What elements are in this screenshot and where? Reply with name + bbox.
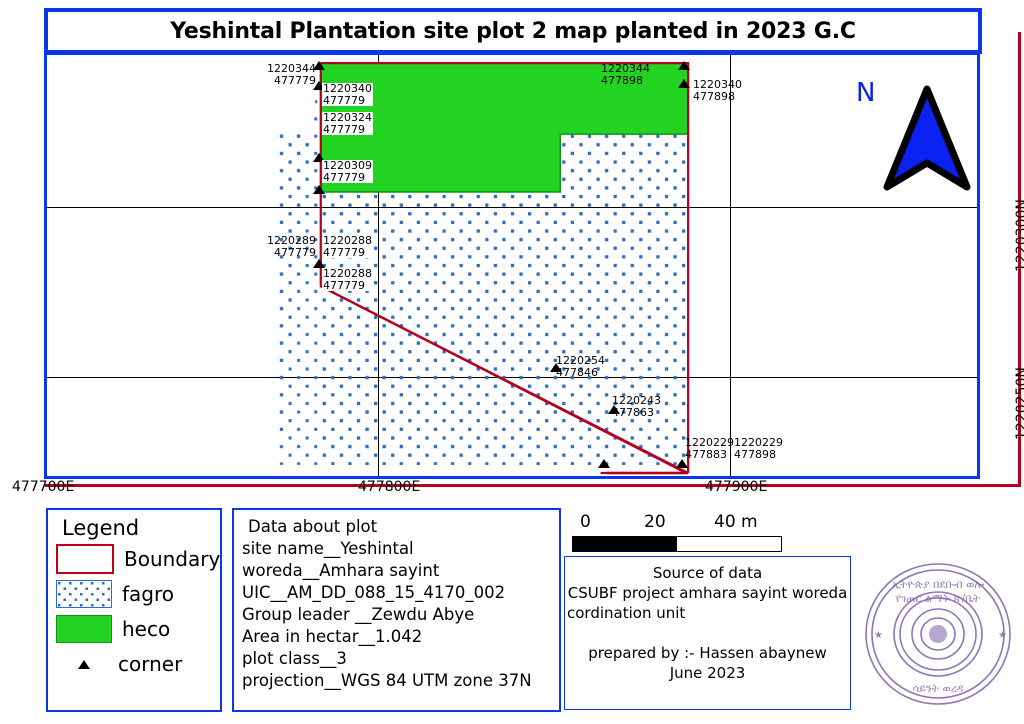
coord-label: 1220254 477846 bbox=[555, 355, 606, 378]
coord-label: 1220340 477898 bbox=[692, 79, 743, 102]
svg-text:ሳይንት ወረዳ: ሳይንት ወረዳ bbox=[913, 682, 964, 695]
svg-text:ኢትዮጵያ በደቡብ ወሎ: ኢትዮጵያ በደቡብ ወሎ bbox=[892, 578, 985, 591]
source-line-1: CSUBF project amhara sayint woreda bbox=[565, 583, 850, 603]
official-stamp: ኢትዮጵያ በደቡብ ወሎ የገጠር ልማት ጽ/ቤት ሳይንት ወረዳ ★ ★ bbox=[858, 558, 1018, 710]
plot-data-line: site name__Yeshintal bbox=[242, 538, 559, 560]
scale-bar-group: 0 20 40 m bbox=[572, 512, 802, 552]
plot-data-heading: Data about plot bbox=[248, 516, 559, 538]
coord-label: 1220344 477898 bbox=[600, 63, 651, 86]
fagro-pattern-icon bbox=[57, 581, 111, 607]
corner-marker bbox=[313, 185, 325, 194]
boundary-swatch bbox=[56, 544, 114, 574]
legend-box: Legend Boundary fagro heco corner bbox=[46, 508, 222, 712]
north-letter: N bbox=[856, 78, 875, 108]
map-frame[interactable]: 1220344 477779 1220340 477779 1220324 47… bbox=[44, 52, 980, 479]
legend-item-corner: corner bbox=[56, 647, 220, 681]
plot-data-line: plot class__3 bbox=[242, 648, 559, 670]
prepared-by: prepared by :- Hassen abaynew bbox=[565, 643, 850, 663]
legend-item-label: heco bbox=[122, 617, 170, 641]
coord-label: 1220243 477863 bbox=[611, 395, 662, 418]
scale-tick-label: 40 m bbox=[714, 512, 758, 532]
page-border-bottom bbox=[45, 484, 1021, 487]
coord-label: 1220344 477779 bbox=[231, 63, 317, 86]
scale-bar-segment-empty bbox=[677, 537, 781, 551]
scale-tick-label: 20 bbox=[644, 512, 666, 532]
svg-text:★: ★ bbox=[874, 630, 883, 641]
plot-data-line: Area in hectar__1.042 bbox=[242, 626, 559, 648]
x-axis-tick-label: 477900E bbox=[705, 479, 767, 495]
corner-triangle-icon bbox=[78, 660, 90, 669]
plot-data-box: Data about plot site name__Yeshintal wor… bbox=[232, 508, 561, 712]
svg-text:★: ★ bbox=[998, 630, 1007, 641]
scale-tick-label: 0 bbox=[580, 512, 591, 532]
svg-text:የገጠር ልማት ጽ/ቤት: የገጠር ልማት ጽ/ቤት bbox=[896, 592, 981, 605]
coord-label: 1220340 477779 bbox=[322, 83, 373, 106]
plot-data-line: woreda__Amhara sayint bbox=[242, 560, 559, 582]
fagro-swatch bbox=[56, 580, 112, 608]
corner-marker bbox=[678, 61, 690, 70]
plot-data-line: projection__WGS 84 UTM zone 37N bbox=[242, 670, 559, 692]
y-axis-tick-label: 1220250N bbox=[1014, 367, 1024, 440]
legend-item-label: corner bbox=[118, 652, 182, 676]
coord-label: 1220289 477779 bbox=[233, 235, 317, 258]
x-axis-tick-label: 477800E bbox=[358, 479, 420, 495]
source-line-2: cordination unit bbox=[567, 603, 850, 623]
coord-label: 1220288 477779 bbox=[322, 235, 373, 258]
prepared-date: June 2023 bbox=[565, 663, 850, 683]
scale-bar-segment-filled bbox=[573, 537, 677, 551]
corner-marker bbox=[678, 79, 690, 88]
north-arrow-icon bbox=[881, 83, 973, 195]
heco-swatch bbox=[56, 615, 112, 643]
map-title-box: Yeshintal Plantation site plot 2 map pla… bbox=[44, 8, 982, 54]
coord-label: 1220324 477779 bbox=[322, 112, 373, 135]
coord-label: 1220309 477779 bbox=[322, 160, 373, 183]
legend-item-label: fagro bbox=[122, 582, 174, 606]
map-title: Yeshintal Plantation site plot 2 map pla… bbox=[170, 19, 856, 44]
plot-polygons bbox=[47, 55, 977, 476]
plot-data-line: UIC__AM_DD_088_15_4170_002 bbox=[242, 582, 559, 604]
legend-item-boundary: Boundary bbox=[56, 542, 220, 576]
legend-title: Legend bbox=[62, 516, 220, 540]
scale-bar bbox=[572, 536, 782, 552]
legend-item-fagro: fagro bbox=[56, 577, 220, 611]
scale-bar-labels: 0 20 40 m bbox=[572, 512, 802, 534]
source-heading: Source of data bbox=[565, 563, 850, 583]
source-of-data-box: Source of data CSUBF project amhara sayi… bbox=[564, 556, 851, 710]
coord-label: 1220229 477898 bbox=[733, 437, 784, 460]
legend-item-label: Boundary bbox=[124, 547, 220, 571]
corner-marker bbox=[598, 459, 610, 468]
map-canvas[interactable]: 1220344 477779 1220340 477779 1220324 47… bbox=[47, 55, 977, 476]
coord-label: 1220229 477883 bbox=[684, 437, 735, 460]
plot-data-line: Group leader __Zewdu Abye bbox=[242, 604, 559, 626]
y-axis-tick-label: 1220300N bbox=[1014, 199, 1024, 272]
x-axis-tick-label: 477700E bbox=[12, 479, 74, 495]
legend-item-heco: heco bbox=[56, 612, 220, 646]
coord-label: 1220288 477779 bbox=[322, 268, 373, 291]
